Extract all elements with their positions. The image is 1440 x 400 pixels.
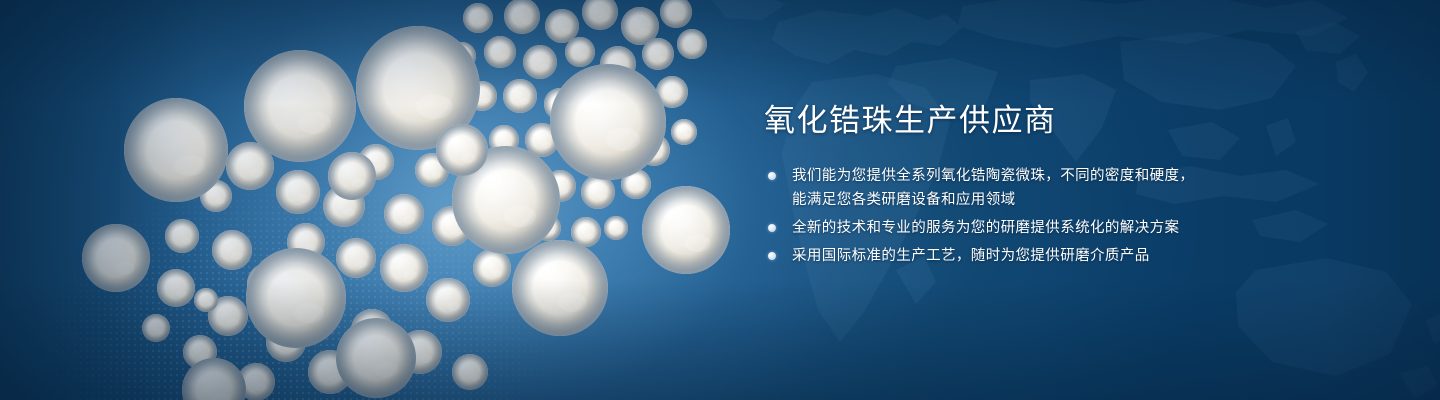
bullet-dot-icon xyxy=(768,224,776,232)
list-item-line: 采用国际标准的生产工艺，随时为您提供研磨介质产品 xyxy=(792,244,1324,268)
list-item: 全新的技术和专业的服务为您的研磨提供系统化的解决方案 xyxy=(764,216,1324,240)
list-item: 我们能为您提供全系列氧化锆陶瓷微珠，不同的密度和硬度， 能满足您各类研磨设备和应… xyxy=(764,164,1324,212)
bullet-dot-icon xyxy=(768,172,776,180)
bullet-dot-icon xyxy=(768,252,776,260)
list-item-line: 我们能为您提供全系列氧化锆陶瓷微珠，不同的密度和硬度， xyxy=(792,164,1324,188)
list-item-line: 全新的技术和专业的服务为您的研磨提供系统化的解决方案 xyxy=(792,216,1324,240)
page-title: 氧化锆珠生产供应商 xyxy=(764,100,1324,142)
feature-list: 我们能为您提供全系列氧化锆陶瓷微珠，不同的密度和硬度， 能满足您各类研磨设备和应… xyxy=(764,164,1324,268)
list-item-line: 能满足您各类研磨设备和应用领域 xyxy=(792,188,1324,212)
banner-copy: 氧化锆珠生产供应商 我们能为您提供全系列氧化锆陶瓷微珠，不同的密度和硬度， 能满… xyxy=(764,100,1324,268)
list-item: 采用国际标准的生产工艺，随时为您提供研磨介质产品 xyxy=(764,244,1324,268)
hero-banner: 氧化锆珠生产供应商 我们能为您提供全系列氧化锆陶瓷微珠，不同的密度和硬度， 能满… xyxy=(0,0,1440,400)
